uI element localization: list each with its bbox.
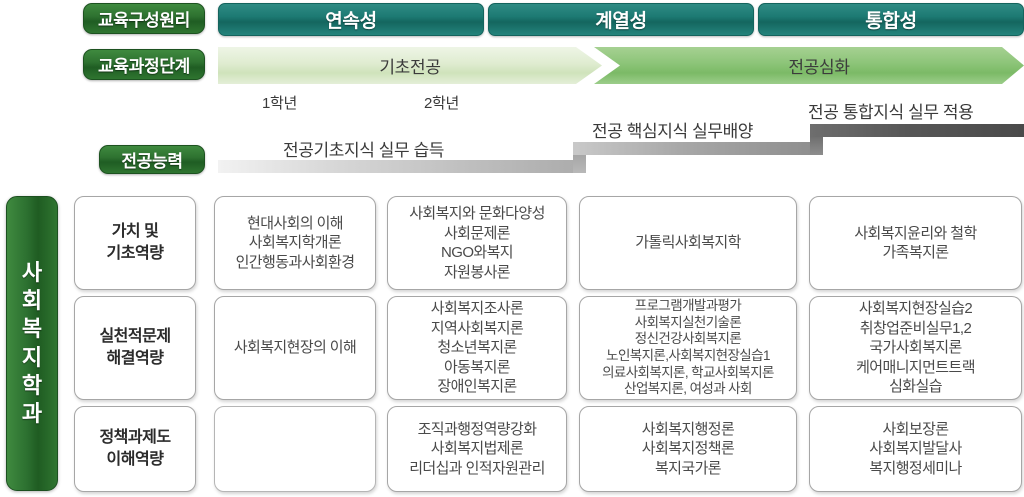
- step-caption-core: 전공 핵심지식 실무배양: [592, 117, 753, 142]
- label-education-principle: 교육구성원리: [83, 3, 205, 34]
- course-cell-2-1[interactable]: 조직과행정역량강화 사회복지법제론 리더십과 인적자원관리: [387, 406, 567, 492]
- competency-line: 가치 및: [112, 221, 159, 243]
- course-line: 지역사회복지론: [431, 319, 523, 339]
- course-line: 아동복지론: [444, 358, 510, 378]
- label-curriculum-stage: 교육과정단계: [83, 49, 205, 80]
- course-line: 장애인복지론: [437, 377, 516, 397]
- course-line: NGO와복지: [441, 243, 513, 263]
- staircase-step-integrated: [810, 124, 1024, 137]
- year-tick-1: 1학년: [262, 92, 297, 113]
- curriculum-map-canvas: 교육구성원리 교육과정단계 전공능력 연속성 계열성 통합성 기초전공 전공심화…: [0, 0, 1024, 497]
- department-char-5: 과: [22, 400, 42, 428]
- competency-cell-0[interactable]: 가치 및 기초역량: [74, 196, 196, 290]
- course-cell-2-0[interactable]: [214, 406, 376, 492]
- course-line: 사회문제론: [444, 224, 510, 244]
- table-row: 정책과제도 이해역량 조직과행정역량강화 사회복지법제론 리더십과 인적자원관리…: [74, 406, 1022, 492]
- competency-cell-2[interactable]: 정책과제도 이해역량: [74, 406, 196, 492]
- course-line: 취창업준비실무1,2: [860, 319, 971, 339]
- course-line: 가족복지론: [882, 243, 948, 263]
- course-line: 가톨릭사회복지학: [635, 233, 741, 253]
- course-line: 케어매니지먼트트랙: [856, 358, 975, 378]
- curriculum-stage-band: 기초전공 전공심화: [218, 47, 1024, 84]
- course-line: 정신건강사회복지론: [635, 331, 741, 348]
- department-char-1: 회: [22, 287, 42, 315]
- table-row: 가치 및 기초역량 현대사회의 이해 사회복지학개론 인간행동과사회환경 사회복…: [74, 196, 1022, 290]
- course-line: 복지국가론: [655, 459, 721, 479]
- course-line: 프로그램개발과평가: [635, 298, 741, 315]
- course-cell-1-2[interactable]: 프로그램개발과평가 사회복지실천기술론 정신건강사회복지론 노인복지론,사회복지…: [579, 296, 797, 400]
- competency-cell-1[interactable]: 실천적문제 해결역량: [74, 296, 196, 400]
- course-line: 현대사회의 이해: [247, 214, 343, 234]
- principle-bar-continuity: 연속성: [218, 3, 484, 36]
- course-line: 리더십과 인적자원관리: [409, 459, 545, 479]
- department-char-3: 지: [22, 344, 42, 372]
- course-line: 사회복지윤리와 철학: [854, 224, 976, 244]
- stage-advanced-major: 전공심화: [594, 47, 1024, 84]
- course-line: 산업복지론, 여성과 사회: [624, 381, 752, 398]
- competency-line: 이해역량: [107, 449, 164, 471]
- course-cell-2-3[interactable]: 사회보장론 사회복지발달사 복지행정세미나: [809, 406, 1022, 492]
- course-line: 사회복지현장실습2: [859, 299, 972, 319]
- competency-line: 실천적문제: [99, 326, 170, 348]
- course-cell-1-3[interactable]: 사회복지현장실습2 취창업준비실무1,2 국가사회복지론 케어매니지먼트트랙 심…: [809, 296, 1022, 400]
- course-line: 사회보장론: [882, 420, 948, 440]
- department-char-0: 사: [22, 259, 42, 287]
- step-caption-integrated: 전공 통합지식 실무 적용: [808, 98, 973, 123]
- department-char-4: 학: [22, 372, 42, 400]
- step-caption-basic: 전공기초지식 실무 습득: [283, 136, 444, 161]
- year-tick-2: 2학년: [424, 92, 459, 113]
- principle-bar-sequence: 계열성: [488, 3, 754, 36]
- course-line: 사회복지행정론: [642, 420, 734, 440]
- department-char-2: 복: [22, 315, 42, 343]
- course-line: 조직과행정역량강화: [418, 420, 537, 440]
- competency-line: 기초역량: [107, 243, 164, 265]
- course-line: 사회복지법제론: [431, 439, 523, 459]
- stage-advanced-major-label: 전공심화: [788, 53, 849, 78]
- staircase-step-core: [573, 142, 810, 155]
- course-line: 의료사회복지론, 학교사회복지론: [602, 365, 774, 382]
- table-row: 실천적문제 해결역량 사회복지현장의 이해 사회복지조사론 지역사회복지론 청소…: [74, 296, 1022, 400]
- course-line: 사회복지발달사: [869, 439, 961, 459]
- staircase-step-basic: [218, 160, 573, 173]
- course-line: 청소년복지론: [437, 338, 516, 358]
- label-major-competency: 전공능력: [99, 145, 205, 174]
- course-line: 국가사회복지론: [869, 338, 961, 358]
- course-line: 사회복지정책론: [642, 439, 734, 459]
- competency-line: 해결역량: [107, 348, 164, 370]
- course-line: 노인복지론,사회복지현장실습1: [606, 348, 770, 365]
- course-cell-1-0[interactable]: 사회복지현장의 이해: [214, 296, 376, 400]
- stage-basic-major-label: 기초전공: [379, 53, 440, 78]
- stage-basic-major: 기초전공: [218, 47, 602, 84]
- course-cell-1-1[interactable]: 사회복지조사론 지역사회복지론 청소년복지론 아동복지론 장애인복지론: [387, 296, 567, 400]
- course-line: 사회복지학개론: [249, 233, 341, 253]
- course-line: 인간행동과사회환경: [236, 253, 355, 273]
- course-cell-0-3[interactable]: 사회복지윤리와 철학 가족복지론: [809, 196, 1022, 290]
- course-line: 사회복지조사론: [431, 299, 523, 319]
- competency-line: 정책과제도: [99, 427, 170, 449]
- course-line: 복지행정세미나: [869, 459, 961, 479]
- course-cell-0-0[interactable]: 현대사회의 이해 사회복지학개론 인간행동과사회환경: [214, 196, 376, 290]
- course-line: 사회복지와 문화다양성: [409, 204, 545, 224]
- course-cell-0-1[interactable]: 사회복지와 문화다양성 사회문제론 NGO와복지 자원봉사론: [387, 196, 567, 290]
- principle-bar-integration: 통합성: [758, 3, 1024, 36]
- course-line: 심화실습: [889, 377, 942, 397]
- course-cell-0-2[interactable]: 가톨릭사회복지학: [579, 196, 797, 290]
- curriculum-grid: 가치 및 기초역량 현대사회의 이해 사회복지학개론 인간행동과사회환경 사회복…: [74, 196, 1022, 492]
- course-line: 사회복지실천기술론: [635, 315, 741, 332]
- course-line: 사회복지현장의 이해: [234, 338, 356, 358]
- course-cell-2-2[interactable]: 사회복지행정론 사회복지정책론 복지국가론: [579, 406, 797, 492]
- course-line: 자원봉사론: [444, 263, 510, 283]
- department-banner: 사 회 복 지 학 과: [6, 196, 58, 491]
